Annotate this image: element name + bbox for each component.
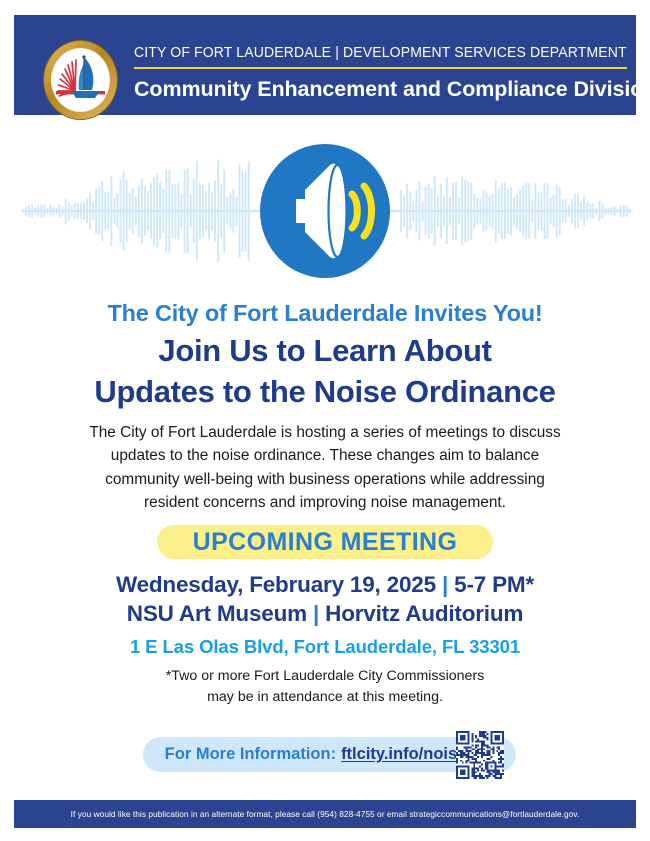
city-seal-sailboat-sunburst [52, 49, 109, 111]
city-seal-icon [44, 41, 117, 119]
header-bar: CITY OF FORT LAUDERDALE | DEVELOPMENT SE… [14, 15, 636, 115]
qr-code-graphic [456, 731, 504, 779]
meeting-separator-2: | [313, 601, 319, 626]
footnote-line-2: may be in attendance at this meeting. [110, 687, 540, 708]
meeting-venue-room: NSU Art Museum | Horvitz Auditorium [0, 601, 650, 627]
upcoming-meeting-banner: UPCOMING MEETING [157, 525, 493, 559]
meeting-separator-1: | [442, 572, 448, 597]
speaker-volume-icon [258, 144, 392, 278]
more-information-label: For More Information: [165, 745, 336, 764]
qr-code-icon[interactable] [456, 731, 504, 779]
headline-line-1: Join Us to Learn About [0, 330, 650, 371]
meeting-date: Wednesday, February 19, 2025 [116, 572, 436, 597]
footer-accessibility-notice: If you would like this publication in an… [71, 809, 580, 819]
page-title: Join Us to Learn About Updates to the No… [0, 330, 650, 412]
upcoming-meeting-label: UPCOMING MEETING [193, 528, 458, 557]
meeting-date-time: Wednesday, February 19, 2025 | 5-7 PM* [0, 572, 650, 598]
meeting-address: 1 E Las Olas Blvd, Fort Lauderdale, FL 3… [0, 636, 650, 658]
header-divider [134, 67, 627, 69]
headline-line-2: Updates to the Noise Ordinance [0, 371, 650, 412]
department-line: CITY OF FORT LAUDERDALE | DEVELOPMENT SE… [134, 45, 610, 61]
meeting-venue: NSU Art Museum [127, 601, 307, 626]
speaker-icon-graphic [258, 144, 392, 278]
flyer-page: CITY OF FORT LAUDERDALE | DEVELOPMENT SE… [0, 0, 650, 841]
footnote-line-1: *Two or more Fort Lauderdale City Commis… [110, 666, 540, 687]
kicker-headline: The City of Fort Lauderdale Invites You! [0, 300, 650, 327]
commissioners-footnote: *Two or more Fort Lauderdale City Commis… [110, 666, 540, 707]
division-title: Community Enhancement and Compliance Div… [134, 77, 630, 102]
header-text-block: CITY OF FORT LAUDERDALE | DEVELOPMENT SE… [134, 45, 630, 102]
footer-bar: If you would like this publication in an… [14, 800, 636, 828]
body-paragraph: The City of Fort Lauderdale is hosting a… [80, 421, 570, 515]
more-information-link[interactable]: ftlcity.info/noise [341, 745, 466, 764]
meeting-time: 5-7 PM* [454, 572, 534, 597]
meeting-room: Horvitz Auditorium [325, 601, 523, 626]
